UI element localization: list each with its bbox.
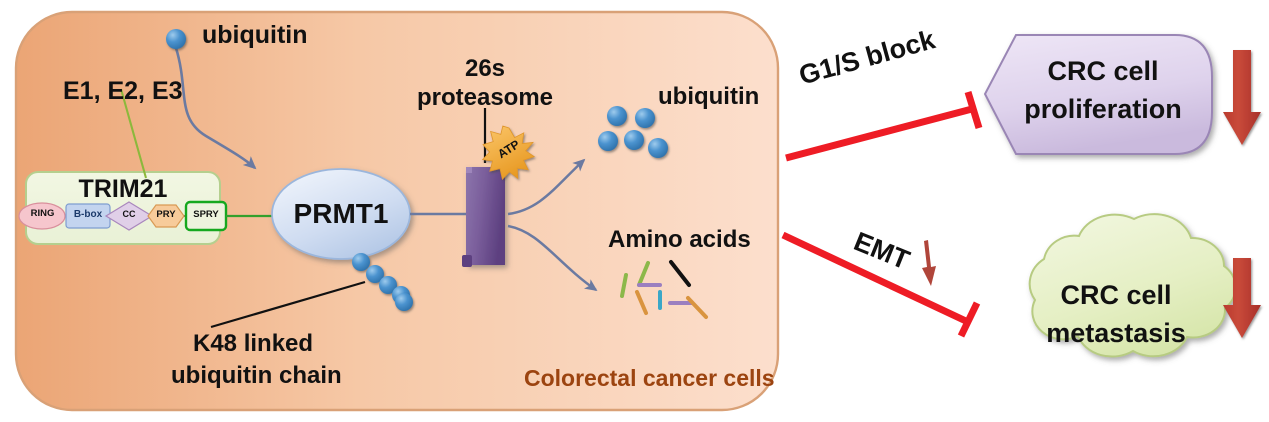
k48-label-line1: K48 linked bbox=[193, 331, 313, 357]
k48-label-line2: ubiquitin chain bbox=[171, 363, 342, 389]
ubiquitin-right-label: ubiquitin bbox=[658, 84, 759, 110]
ubiquitin-top-label: ubiquitin bbox=[202, 22, 308, 50]
domain-cc-label: CC bbox=[112, 210, 146, 220]
metastasis-text-line1: CRC cell bbox=[1026, 281, 1206, 311]
prmt1-label: PRMT1 bbox=[281, 199, 401, 230]
domain-spry-label: SPRY bbox=[187, 210, 225, 220]
proteasome-label-line1: 26s bbox=[412, 56, 558, 82]
ubiquitin-sphere-icon bbox=[166, 29, 186, 49]
proliferation-text-line2: proliferation bbox=[998, 95, 1208, 125]
amino-acids-label: Amino acids bbox=[608, 227, 751, 253]
domain-ring-label: RING bbox=[20, 209, 65, 219]
enzymes-label: E1, E2, E3 bbox=[63, 78, 183, 106]
domain-bbox-label: B-box bbox=[66, 209, 110, 220]
metastasis-text-line2: metastasis bbox=[1026, 319, 1206, 349]
diagram-canvas: ubiquitin E1, E2, E3 TRIM21 RING B-box C… bbox=[0, 0, 1269, 422]
proliferation-text-line1: CRC cell bbox=[998, 57, 1208, 87]
proteasome-label-line2: proteasome bbox=[412, 85, 558, 111]
domain-pry-label: PRY bbox=[150, 210, 182, 220]
cell-type-label: Colorectal cancer cells bbox=[524, 366, 775, 391]
trim21-label: TRIM21 bbox=[26, 176, 220, 204]
